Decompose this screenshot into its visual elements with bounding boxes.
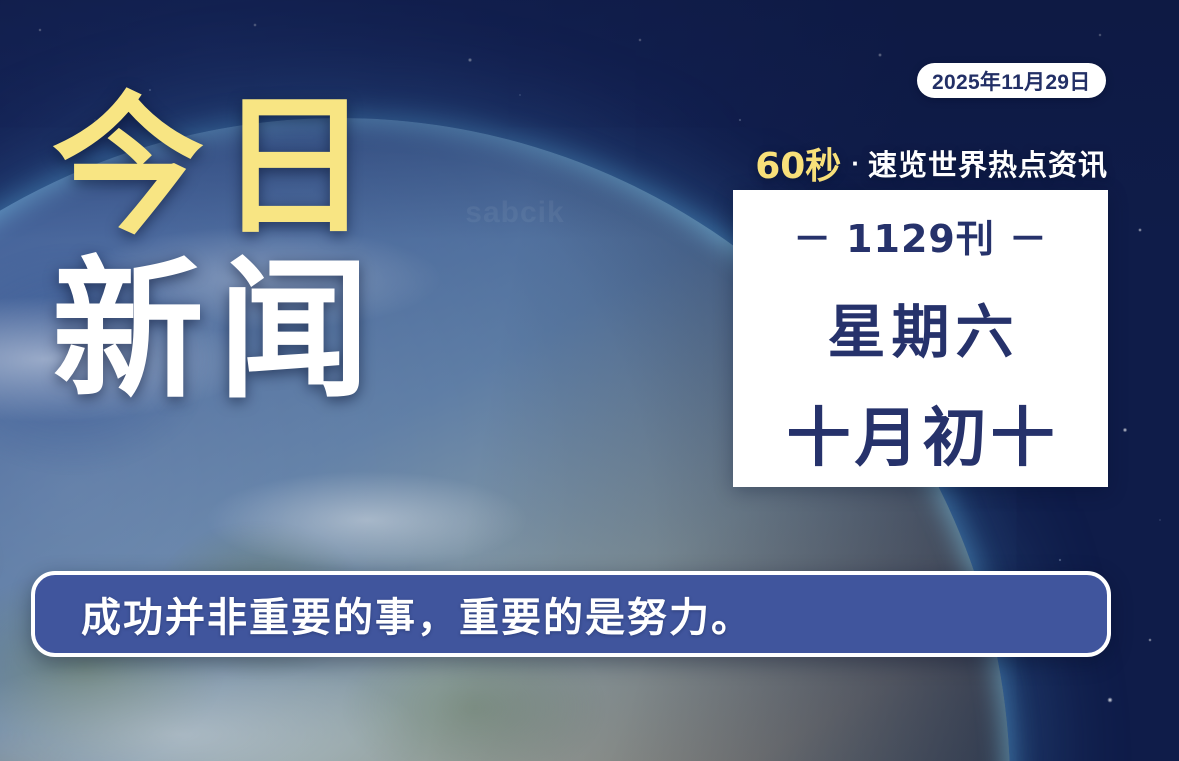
tagline-seconds: 60秒 [755,137,841,189]
brand-title-line-today: 今日 [52,92,482,242]
quote-bar: 成功并非重要的事，重要的是努力。 [31,571,1111,657]
info-card: － 1129刊 － 星期六 十月初十 [733,190,1108,487]
issue-dash-left: － [793,208,832,263]
lunar-date-label: 十月初十 [783,387,1059,479]
brand-title-line-news: 新闻 [52,256,482,406]
tagline-separator: · [851,148,860,179]
tagline-text: 速览世界热点资讯 [868,142,1108,184]
quote-text: 成功并非重要的事，重要的是努力。 [81,585,753,643]
date-badge: 2025年11月29日 [917,63,1106,98]
issue-row: － 1129刊 － [793,208,1048,263]
weekday-label: 星期六 [821,285,1019,369]
tagline: 60秒 · 速览世界热点资讯 [733,141,1108,185]
poster-canvas: sabcik 今日 新闻 2025年11月29日 60秒 · 速览世界热点资讯 … [0,0,1179,761]
brand-title: 今日 新闻 [52,92,482,406]
issue-dash-right: － [1009,208,1048,263]
issue-number: 1129刊 [846,208,995,263]
